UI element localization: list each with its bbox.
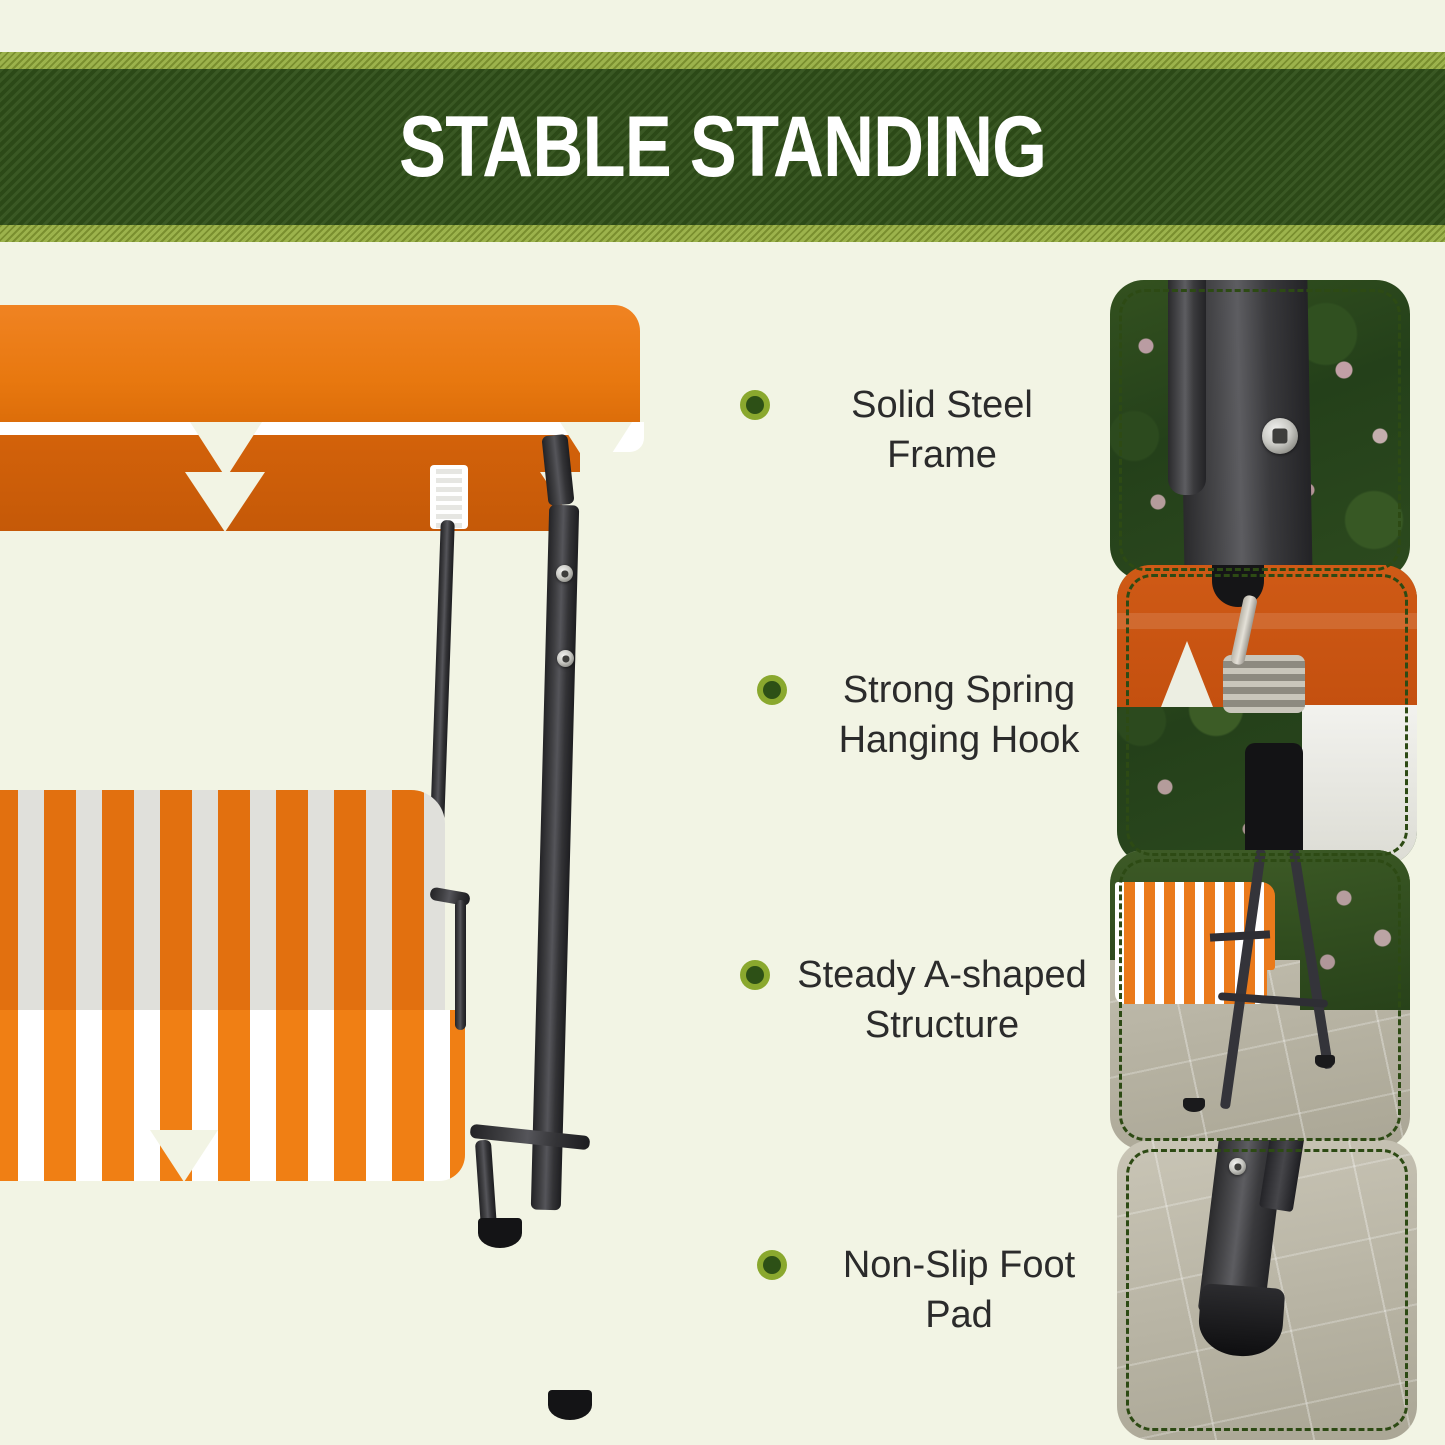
photo-content: [1117, 565, 1417, 865]
front-leg-foot-pad: [548, 1390, 592, 1420]
feature-label-block: Solid Steel Frame: [740, 380, 1100, 480]
banner-top-edge-stripe: [0, 52, 1445, 69]
frame-rear-leg: [475, 1140, 497, 1231]
canopy-under-valance: [0, 435, 580, 531]
photo-content: [1110, 850, 1410, 1150]
skirt-scallop-notch: [150, 1130, 218, 1182]
photo-content: [1117, 1140, 1417, 1440]
spring-hanging-hook-closeup-photo: [1117, 565, 1417, 865]
feature-label-block: Strong Spring Hanging Hook: [757, 665, 1117, 765]
armrest-support: [455, 900, 466, 1030]
feature-row-solid-steel-frame: Solid Steel Frame: [740, 280, 1410, 580]
feature-label-line1: Non-Slip Foot: [843, 1244, 1075, 1286]
feature-label-text: Strong Spring Hanging Hook: [801, 665, 1117, 765]
valance-scallop-notch: [185, 472, 265, 532]
feature-label-block: Non-Slip Foot Pad: [757, 1240, 1117, 1340]
feature-row-non-slip-foot-pad: Non-Slip Foot Pad: [735, 1140, 1417, 1440]
canopy-scallop-notch: [190, 422, 262, 478]
header-banner: STABLE STANDING: [0, 52, 1445, 242]
frame-bolt-icon: [1229, 1158, 1246, 1175]
foot-pad: [1183, 1098, 1205, 1112]
frame-front-leg: [531, 505, 579, 1211]
feature-label-text: Steady A-shaped Structure: [784, 950, 1100, 1050]
bullet-point-icon: [757, 1250, 787, 1280]
feature-label-line2: Hanging Hook: [839, 719, 1080, 761]
banner-body: STABLE STANDING: [0, 69, 1445, 225]
frame-post-lower: [1245, 743, 1303, 865]
feature-row-steady-a-shaped-structure: Steady A-shaped Structure: [740, 850, 1410, 1150]
photo-content: [1110, 280, 1410, 580]
bullet-point-icon: [757, 675, 787, 705]
steel-tube-inner: [1168, 280, 1206, 495]
a-shaped-frame-structure-photo: [1110, 850, 1410, 1150]
banner-bottom-edge-stripe: [0, 225, 1445, 242]
bullet-point-icon: [740, 960, 770, 990]
feature-label-line2: Structure: [865, 1004, 1019, 1046]
feature-label-line1: Steady A-shaped: [797, 954, 1086, 996]
feature-label-line2: Pad: [925, 1294, 993, 1336]
feature-label-line1: Strong Spring: [843, 669, 1075, 711]
foot-pad: [1315, 1055, 1335, 1068]
non-slip-foot-pad-closeup-photo: [1117, 1140, 1417, 1440]
product-illustration: [0, 250, 720, 1445]
feature-label-line2: Frame: [887, 434, 997, 476]
frame-bolt-icon: [1262, 418, 1298, 454]
feature-label-block: Steady A-shaped Structure: [740, 950, 1100, 1050]
feature-row-strong-spring-hanging-hook: Strong Spring Hanging Hook: [735, 565, 1417, 865]
canopy-top-panel: [0, 305, 640, 435]
canopy-seam: [1117, 613, 1417, 629]
fence-background: [1302, 705, 1417, 865]
feature-label-line1: Solid Steel: [851, 384, 1033, 426]
canopy-scallop: [1161, 641, 1213, 707]
seat-skirt: [0, 1076, 465, 1181]
rear-leg-foot-pad: [478, 1218, 522, 1248]
seat-backrest-cushion: [0, 790, 445, 1020]
frame-bolt: [557, 650, 574, 667]
frame-bolt: [556, 565, 573, 582]
page-title: STABLE STANDING: [399, 104, 1046, 190]
bullet-point-icon: [740, 390, 770, 420]
steel-frame-tube-closeup-photo: [1110, 280, 1410, 580]
seat-base-cushion: [0, 1010, 465, 1082]
feature-label-text: Solid Steel Frame: [784, 380, 1100, 480]
feature-label-text: Non-Slip Foot Pad: [801, 1240, 1117, 1340]
